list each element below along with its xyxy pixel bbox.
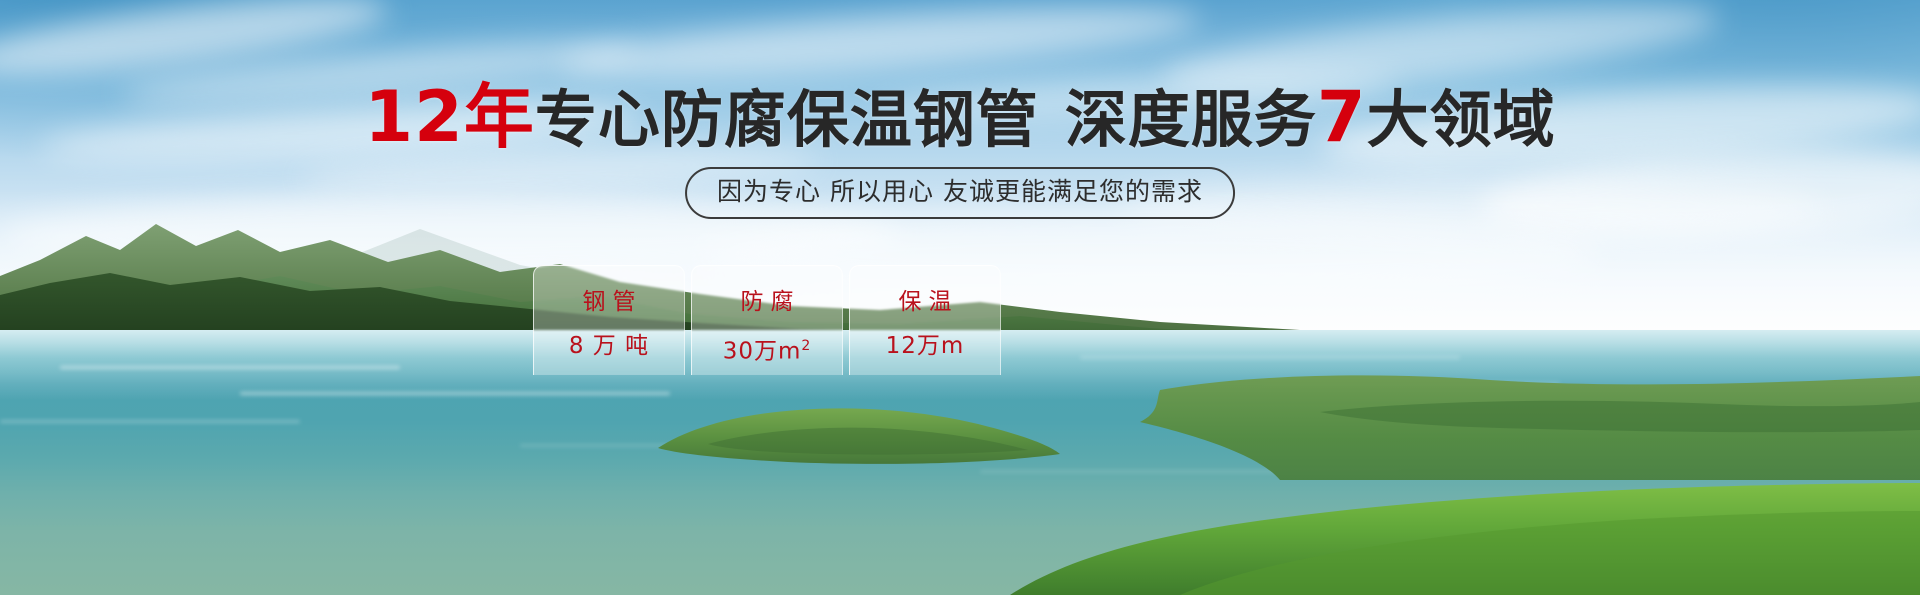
headline-part-three: 大领域 <box>1367 83 1556 156</box>
stat-card-steel-pipe[interactable]: 钢管 8 万 吨 <box>533 265 685 375</box>
foreground-grass <box>0 445 1920 595</box>
stat-card-value: 8 万 吨 <box>569 333 649 359</box>
stat-card-label: 保温 <box>892 289 959 315</box>
water-reflection-streak <box>0 420 300 423</box>
subtitle-pill: 因为专心 所以用心 友诚更能满足您的需求 <box>685 167 1235 219</box>
subtitle-text: 因为专心 所以用心 友诚更能满足您的需求 <box>717 177 1203 206</box>
headline-years-unit: 年 <box>464 76 535 158</box>
headline-part-two: 深度服务 <box>1065 83 1317 156</box>
stat-card-value-main: 30万m <box>723 339 802 365</box>
water-reflection-streak <box>240 392 670 395</box>
stat-card-label: 钢管 <box>576 289 643 315</box>
headline-part-one: 专心防腐保温钢管 <box>535 83 1039 156</box>
stat-card-label: 防腐 <box>734 289 801 315</box>
headline-years-number: 12 <box>364 76 463 158</box>
stat-card-insulation[interactable]: 保温 12万m <box>849 265 1001 375</box>
stat-card-anticorrosion[interactable]: 防腐 30万m2 <box>691 265 843 375</box>
stat-card-value: 30万m2 <box>723 333 812 365</box>
water-reflection-streak <box>1080 356 1460 359</box>
stat-card-value: 12万m <box>886 333 965 359</box>
page-title: 12年专心防腐保温钢管深度服务7大领域 <box>0 83 1920 154</box>
stat-card-group: 钢管 8 万 吨 防腐 30万m2 保温 12万m <box>533 265 1001 375</box>
promo-banner: 12年专心防腐保温钢管深度服务7大领域 因为专心 所以用心 友诚更能满足您的需求… <box>0 0 1920 595</box>
water-reflection-streak <box>60 366 400 369</box>
stat-card-value-superscript: 2 <box>801 338 811 354</box>
headline-fields-number: 7 <box>1317 76 1367 158</box>
